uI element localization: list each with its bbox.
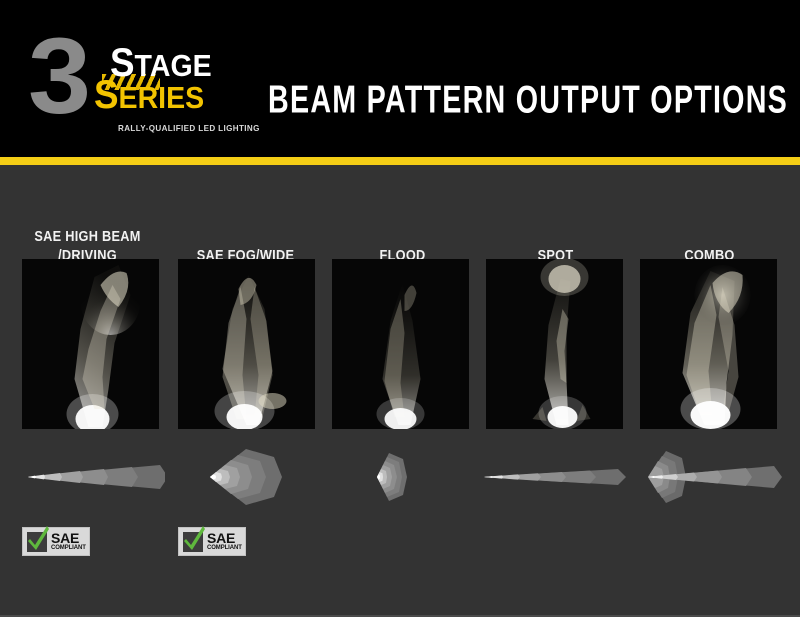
column-label-3: SPOT (478, 180, 633, 266)
beam-diagram-flood (325, 445, 480, 510)
header-bar: 3 STAGE SERIES RALLY-QUALIFIED LED LIGHT… (0, 0, 800, 157)
beam-pattern-infographic: 3 STAGE SERIES RALLY-QUALIFIED LED LIGHT… (0, 0, 800, 622)
column-label-4: COMBO (632, 180, 787, 266)
logo-series-rest: ERIES (119, 80, 205, 115)
logo-word-series: SERIES (94, 80, 204, 113)
beam-diagram-spot (478, 445, 633, 510)
beam-photo-render-1 (178, 259, 315, 429)
sae-badge-title: SAE (207, 531, 235, 545)
beam-photo-flood (332, 259, 469, 429)
bottom-strip (0, 617, 800, 622)
beam-photo-render-0 (22, 259, 159, 429)
logo-series-capital: S (94, 73, 119, 117)
beam-shape-fog-wide (168, 445, 323, 510)
beam-diagram-driving (10, 445, 165, 510)
beam-photo-sae-high-beam-driving (22, 259, 159, 429)
accent-divider (0, 157, 800, 165)
sae-badge-subtitle: COMPLIANT (207, 545, 242, 552)
check-icon (184, 525, 206, 551)
sae-compliant-badge-0: SAE COMPLIANT (22, 527, 90, 556)
stage-series-logo: 3 STAGE SERIES RALLY-QUALIFIED LED LIGHT… (28, 28, 258, 132)
sae-badge-title: SAE (51, 531, 79, 545)
beam-photo-combo (640, 259, 777, 429)
beam-diagram-fog-wide (168, 445, 323, 510)
beam-shape-flood (325, 445, 480, 510)
beam-shape-spot (478, 445, 633, 510)
beam-shape-combo (632, 445, 787, 510)
column-label-1: SAE FOG/WIDE (168, 180, 323, 266)
beam-photo-spot (486, 259, 623, 429)
column-label-0: SAE HIGH BEAM /DRIVING (10, 180, 165, 266)
column-label-2: FLOOD (325, 180, 480, 266)
beam-photo-render-2 (332, 259, 469, 429)
logo-numeral-3: 3 (28, 24, 87, 128)
logo-tagline: RALLY-QUALIFIED LED LIGHTING (118, 123, 260, 133)
beam-shape-driving (10, 445, 165, 510)
beam-photo-render-4 (640, 259, 777, 429)
beam-photo-render-3 (486, 259, 623, 429)
check-icon (28, 525, 50, 551)
logo-stage-rest: TAGE (135, 48, 212, 83)
beam-diagram-combo (632, 445, 787, 510)
sae-badge-subtitle: COMPLIANT (51, 545, 86, 552)
page-title: BEAM PATTERN OUTPUT OPTIONS (268, 78, 788, 123)
sae-compliant-badge-1: SAE COMPLIANT (178, 527, 246, 556)
beam-photo-sae-fog-wide (178, 259, 315, 429)
logo-word-stage: STAGE (110, 48, 212, 81)
